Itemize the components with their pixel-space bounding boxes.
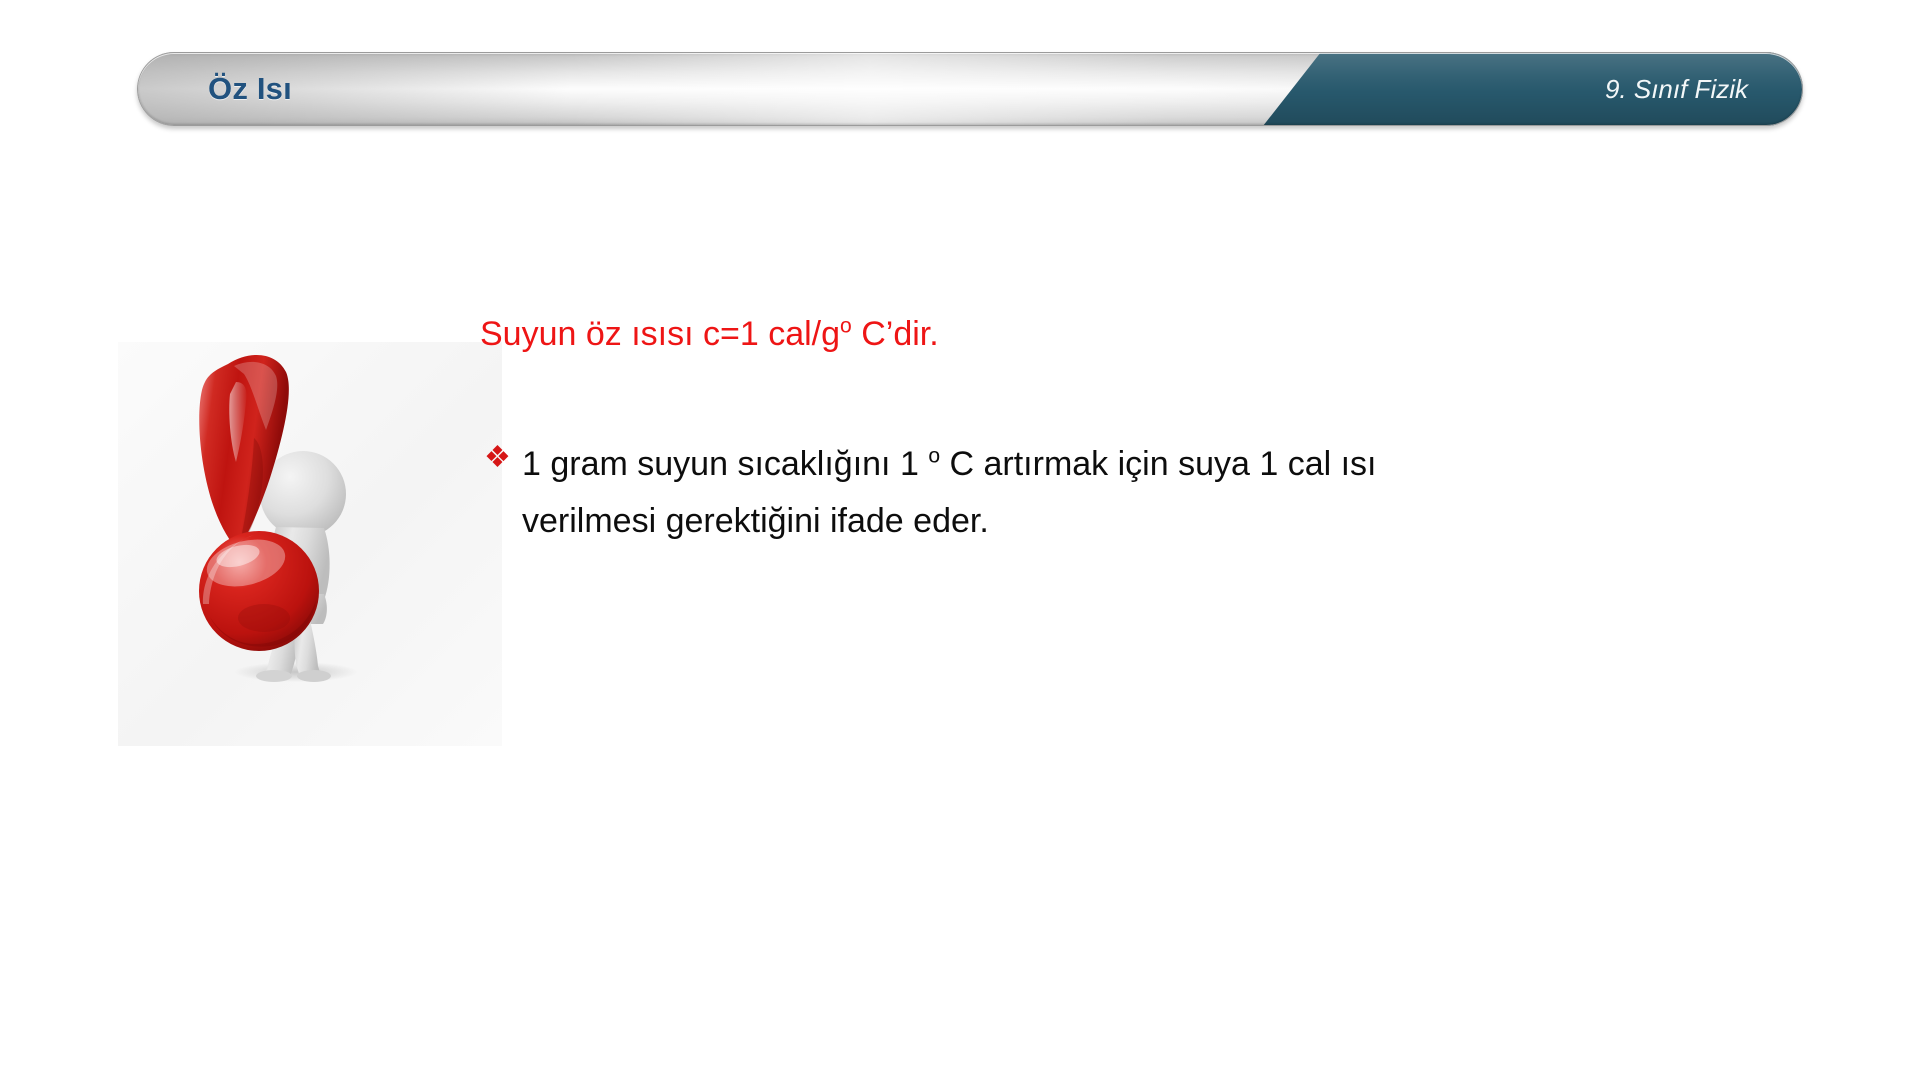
statement-text-after: C’dir. <box>852 315 939 353</box>
list-item: ❖ 1 gram suyun sıcaklığını 1 o C artırma… <box>484 436 1804 550</box>
degree-superscript: o <box>928 445 940 468</box>
bullet-text: 1 gram suyun sıcaklığını 1 o C artırmak … <box>522 436 1804 550</box>
degree-superscript: o <box>840 315 852 338</box>
diamond-bullet-icon: ❖ <box>484 436 522 480</box>
header-banner <box>137 52 1803 126</box>
course-label: 9. Sınıf Fizik <box>1605 52 1748 126</box>
bullet-line-one-before: 1 gram suyun sıcaklığını 1 <box>522 445 928 483</box>
statement-specific-heat-of-water: Suyun öz ısısı c=1 cal/go C’dir. <box>480 315 939 354</box>
illustration-figure-with-exclamation <box>118 342 502 746</box>
statement-text-before: Suyun öz ısısı c=1 cal/g <box>480 315 840 353</box>
bullet-line-one-after: C artırmak için suya 1 cal ısı <box>940 445 1376 483</box>
bullet-line-two: verilmesi gerektiğini ifade eder. <box>522 502 989 540</box>
page-title: Öz Isı <box>208 52 292 126</box>
exclamation-mark-icon <box>118 342 502 746</box>
